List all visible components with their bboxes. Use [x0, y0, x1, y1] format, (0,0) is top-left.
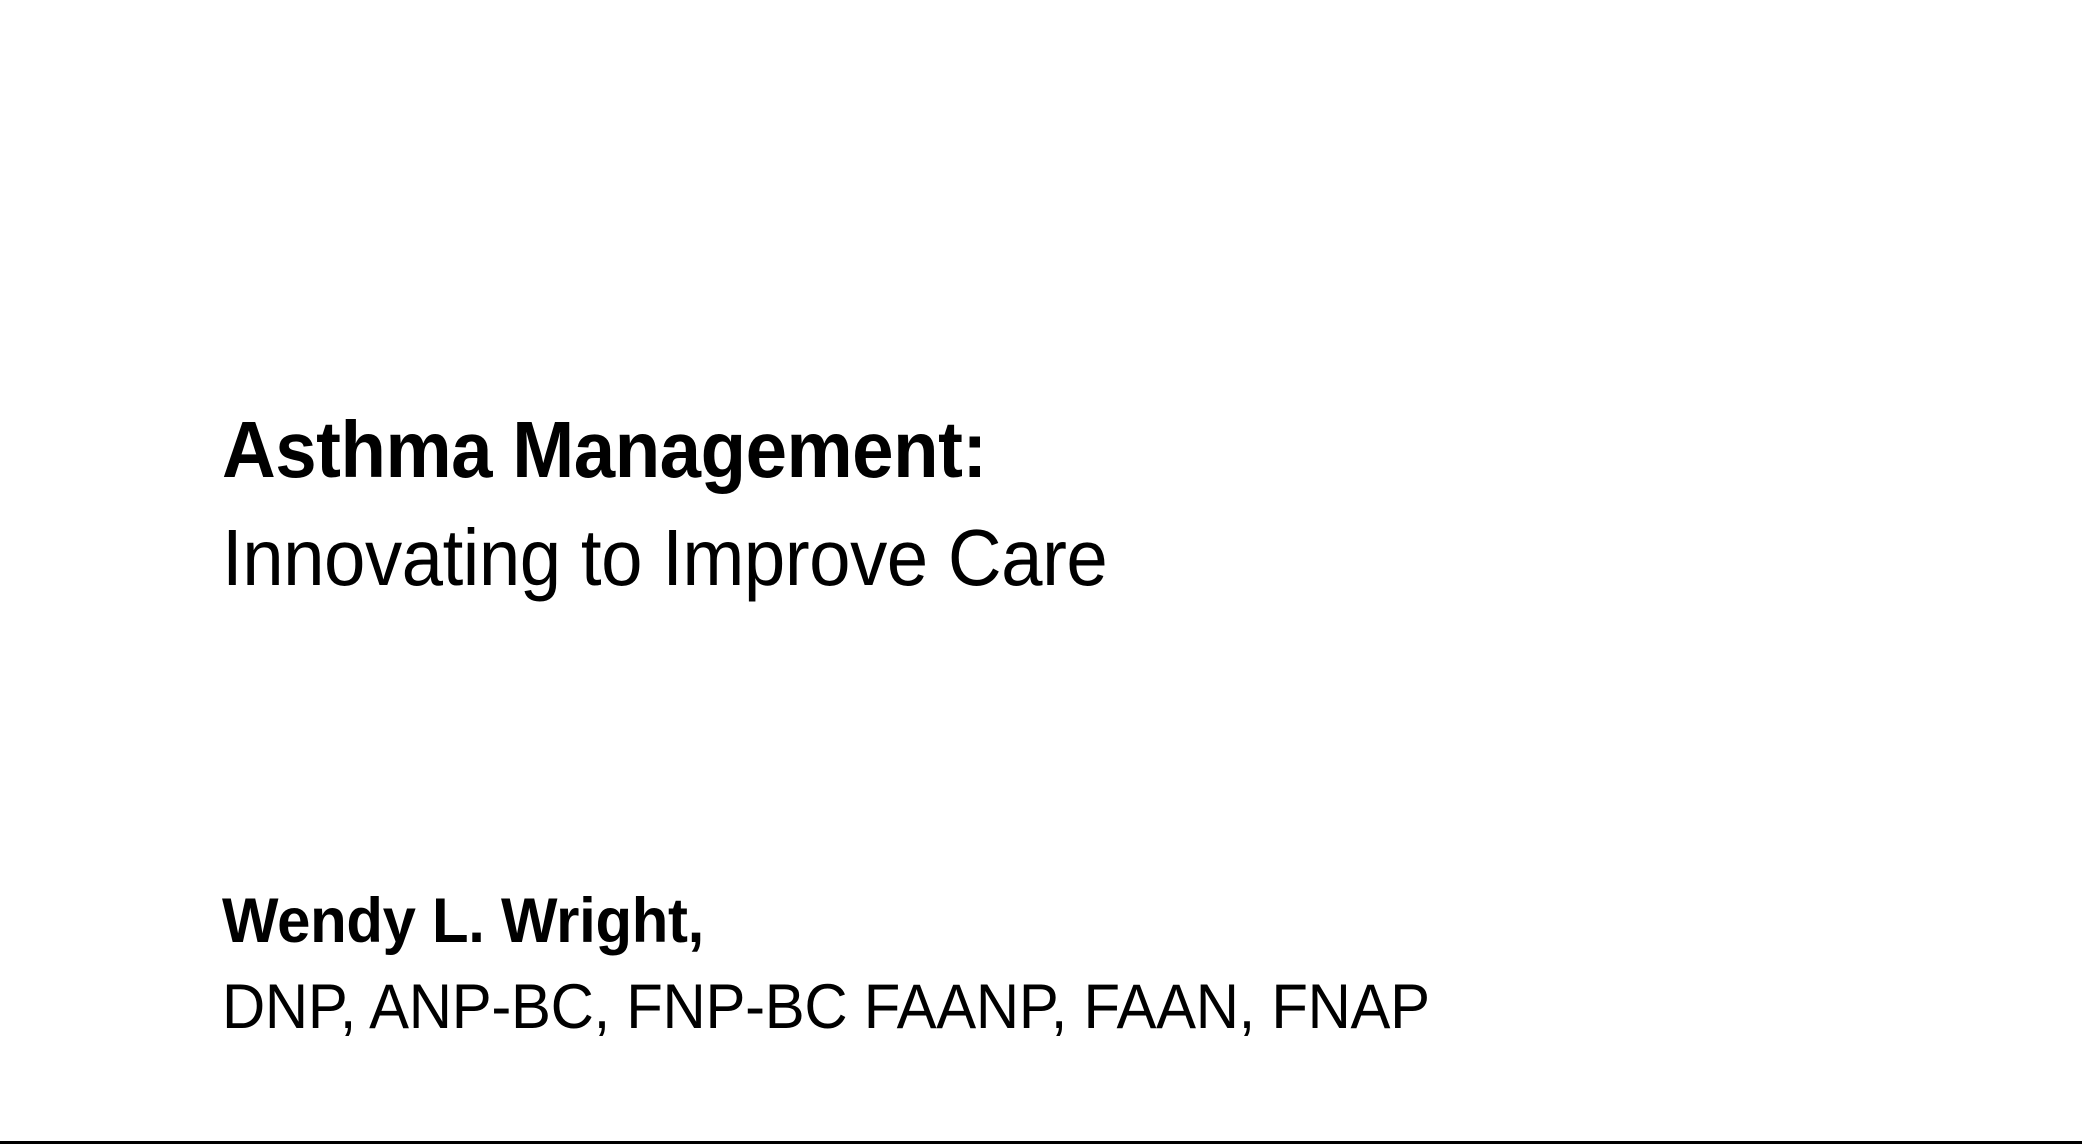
title-block: Asthma Management: Innovating to Improve…: [222, 396, 1722, 612]
author-block: Wendy L. Wright, DNP, ANP-BC, FNP-BC FAA…: [222, 878, 1722, 1050]
presentation-slide: Asthma Management: Innovating to Improve…: [0, 0, 2082, 1144]
author-credentials: DNP, ANP-BC, FNP-BC FAANP, FAAN, FNAP: [222, 964, 1647, 1050]
slide-subtitle: Innovating to Improve Care: [222, 504, 1617, 612]
slide-title: Asthma Management:: [222, 396, 1617, 504]
author-name: Wendy L. Wright,: [222, 878, 1647, 964]
